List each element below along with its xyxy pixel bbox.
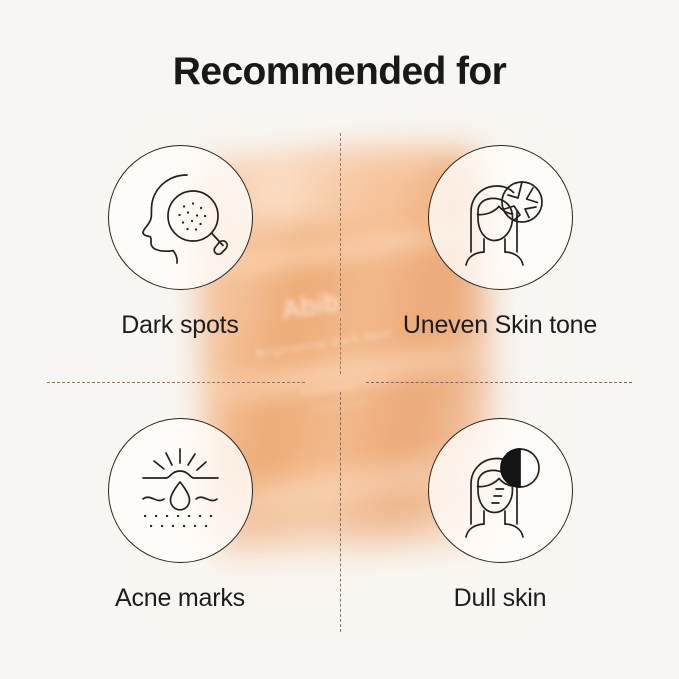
woman-bust-patchy-tone-icon xyxy=(428,145,573,290)
benefit-cell-uneven-skin-tone: Uneven Skin tone xyxy=(350,145,650,340)
benefit-cell-dark-spots: Dark spots xyxy=(30,145,330,340)
vertical-divider-top xyxy=(340,133,341,311)
jar-label-line-3: Niacinamide Serum xyxy=(300,375,391,398)
benefit-cell-acne-marks: Acne marks xyxy=(30,418,330,613)
skin-layers-pimple-droplet-icon xyxy=(108,418,253,563)
horizontal-divider-left xyxy=(47,382,305,383)
benefit-label: Uneven Skin tone xyxy=(350,311,650,340)
benefit-cell-dull-skin: Dull skin xyxy=(350,418,650,613)
vertical-divider-middle xyxy=(340,318,341,374)
benefit-label: Acne marks xyxy=(30,584,330,613)
horizontal-divider-right xyxy=(366,382,632,383)
vertical-divider-bottom xyxy=(340,392,341,632)
woman-bust-half-dark-circle-icon xyxy=(428,418,573,563)
benefit-label: Dull skin xyxy=(350,584,650,613)
jar-highlight-band-2 xyxy=(176,336,516,409)
page-title: Recommended for xyxy=(0,50,679,94)
face-profile-magnifier-spots-icon xyxy=(108,145,253,290)
recommended-for-infographic: Abib Brightening Dark Spot Niacinamide S… xyxy=(0,0,679,679)
benefit-label: Dark spots xyxy=(30,311,330,340)
jar-label-line-4: Intensive Care xyxy=(308,399,369,415)
